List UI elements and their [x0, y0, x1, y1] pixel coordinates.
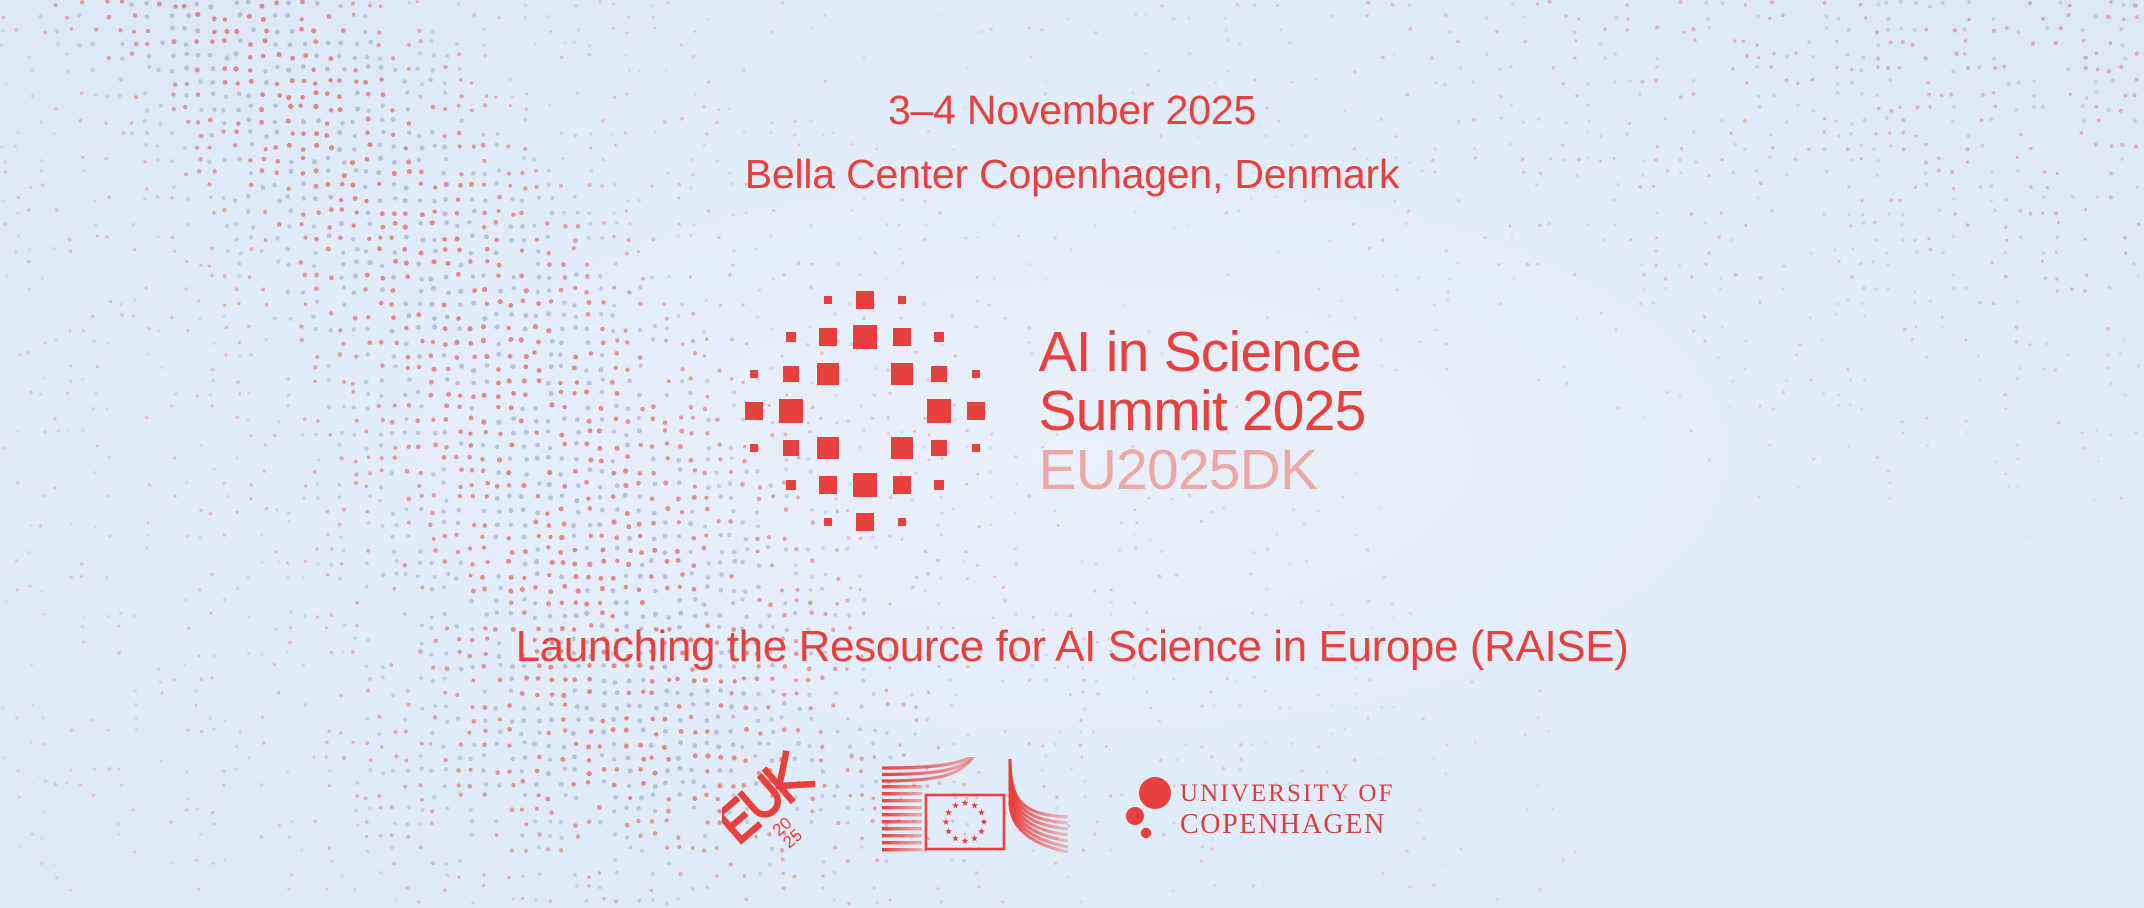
presidency-wordmark: EU2025DK: [1038, 441, 1365, 500]
event-date: 3–4 November 2025: [0, 88, 2144, 133]
ucph-line-2: COPENHAGEN: [1180, 809, 1386, 840]
summit-title-line-1: AI in Science: [1038, 323, 1365, 382]
university-of-copenhagen-logo: UNIVERSITY OF COPENHAGEN: [1122, 771, 1422, 843]
partner-logo-strip: 20 25: [0, 748, 2144, 866]
ec-left-bars: [882, 785, 922, 851]
tagline: Launching the Resource for AI Science in…: [0, 622, 2144, 673]
summit-wordmark: AI in Science Summit 2025 EU2025DK: [1038, 323, 1365, 500]
eu2025dk-danish-presidency-logo: 20 25: [722, 748, 828, 866]
summit-lockup: AI in Science Summit 2025 EU2025DK: [0, 280, 2144, 542]
ucph-dots-emblem: [1126, 777, 1171, 838]
european-commission-logo: [880, 757, 1070, 857]
summit-title-line-2: Summit 2025: [1038, 382, 1365, 441]
ec-right-curves: [1010, 759, 1068, 852]
ec-flag: [926, 795, 1004, 849]
ec-left-curves: [882, 757, 982, 781]
dot-matrix-circle-mark: [734, 280, 996, 542]
summit-banner: 3–4 November 2025 Bella Center Copenhage…: [0, 0, 2144, 908]
event-venue: Bella Center Copenhagen, Denmark: [0, 152, 2144, 197]
ucph-line-1: UNIVERSITY OF: [1180, 780, 1395, 807]
banner-content: 3–4 November 2025 Bella Center Copenhage…: [0, 0, 2144, 908]
